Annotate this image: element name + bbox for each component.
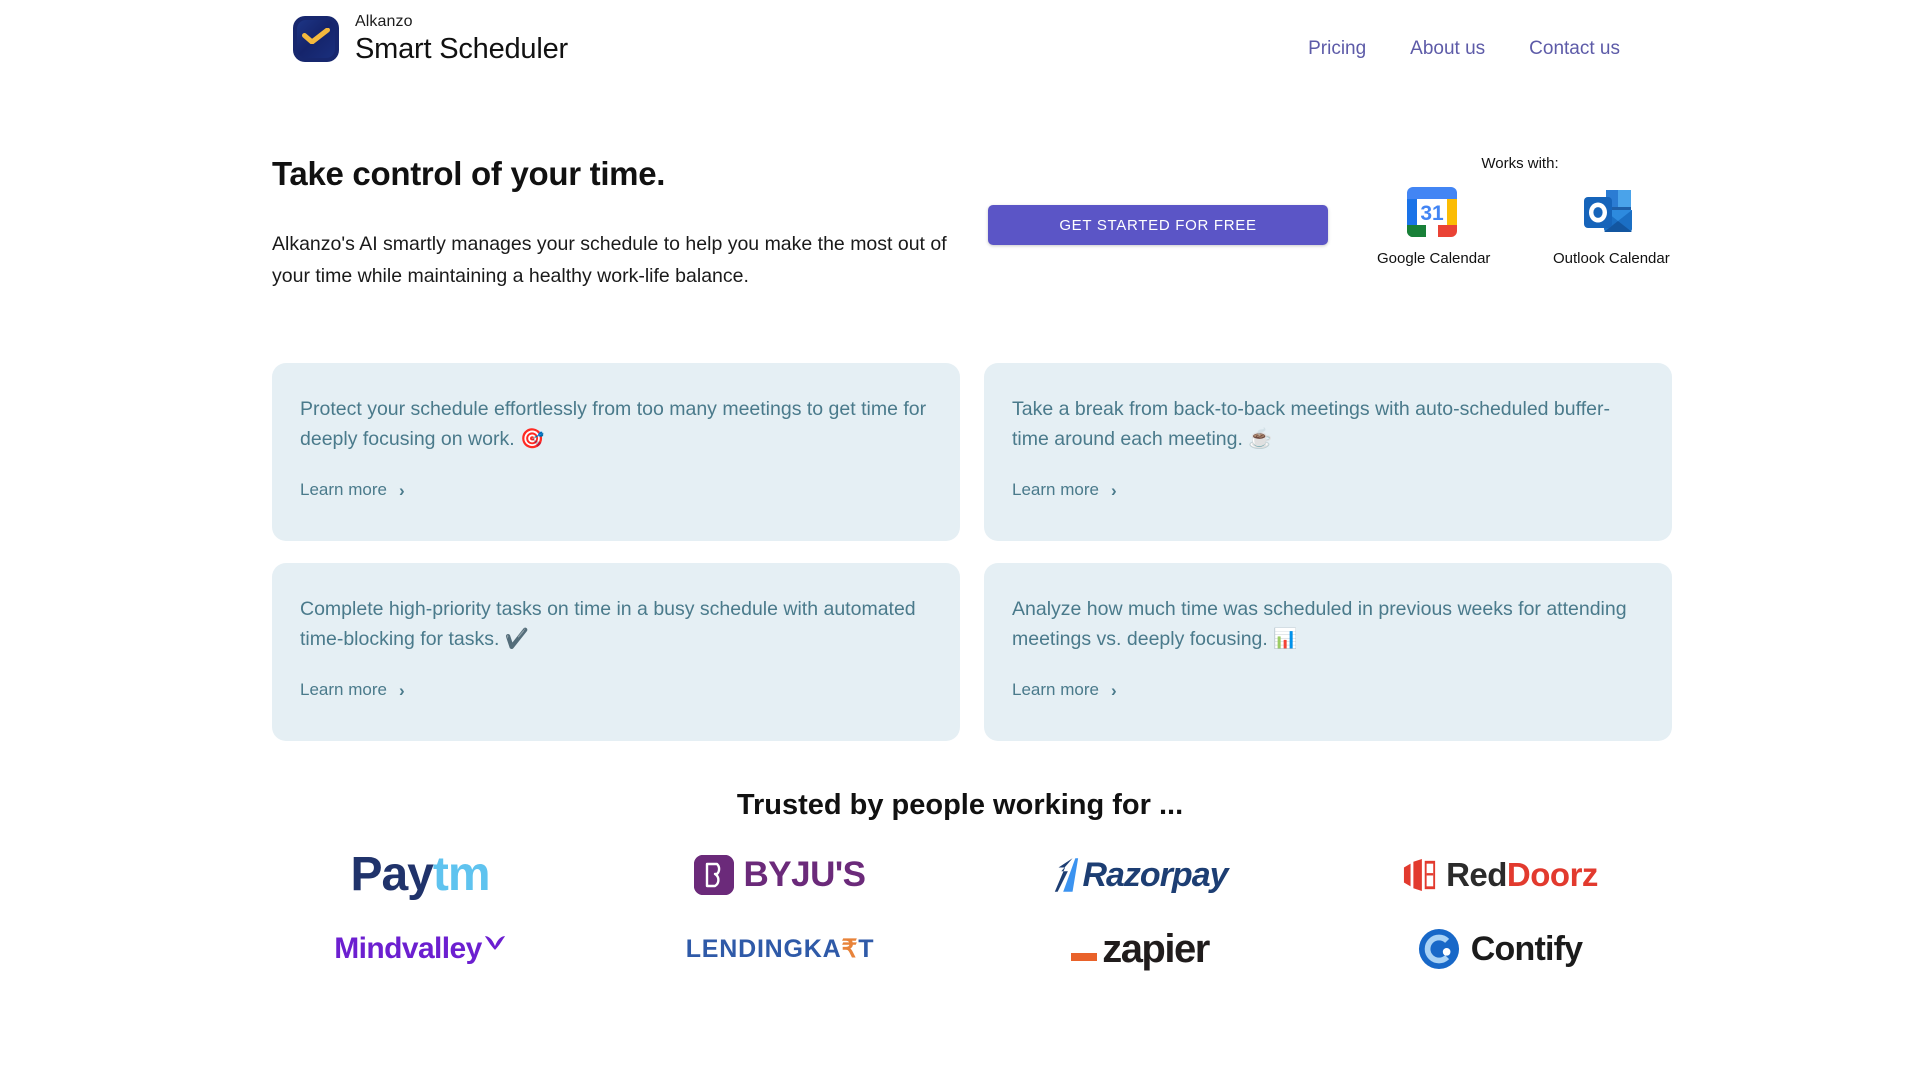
feature-card-text: Take a break from back-to-back meetings … [1012,395,1644,454]
works-with-section: Works with: [1370,155,1670,267]
logo-zapier: zapier [960,914,1320,984]
logo-paytm-part-a: Pay [350,848,432,901]
nav-link-about-us[interactable]: About us [1410,38,1485,60]
feature-card-text: Analyze how much time was scheduled in p… [1012,595,1644,654]
logo-mindvalley-text: Mindvalley [334,932,481,966]
check-glyph [302,28,330,44]
logo-paytm: Paytm [240,840,600,910]
checkmark-badge-icon [293,16,339,62]
logo-zapier-text: zapier [1102,927,1209,972]
get-started-button[interactable]: GET STARTED FOR FREE [988,205,1328,245]
feature-card-text: Protect your schedule effortlessly from … [300,395,932,454]
main-nav: Pricing About us Contact us [1308,38,1620,60]
logo-lendingkart: LENDINGKA₹T [600,914,960,984]
chevron-right-icon: › [399,482,405,499]
learn-more-label: Learn more [300,480,387,500]
learn-more-label: Learn more [1012,480,1099,500]
logo-byjus-text: BYJU'S [743,855,865,895]
feature-card-protect-schedule[interactable]: Protect your schedule effortlessly from … [272,363,960,541]
logo-razorpay: Razorpay [960,840,1320,910]
contify-c-mark-icon [1418,928,1460,970]
logo-reddoorz-part-b: Doorz [1507,856,1598,893]
feature-card-buffer-time[interactable]: Take a break from back-to-back meetings … [984,363,1672,541]
integration-label: Outlook Calendar [1553,250,1663,267]
reddoorz-door-icon [1402,858,1438,892]
logo-lendingkart-part-c: T [858,935,874,963]
integration-outlook-calendar[interactable]: Outlook Calendar [1553,184,1663,267]
brand-text: Alkanzo Smart Scheduler [355,14,568,64]
learn-more-label: Learn more [300,680,387,700]
svg-text:31: 31 [1420,202,1444,225]
mindvalley-leaf-icon [484,934,506,951]
google-calendar-icon: 31 [1404,184,1460,240]
logo-contify-text: Contify [1471,930,1583,969]
logo-mindvalley: Mindvalley [240,914,600,984]
site-header: Alkanzo Smart Scheduler Pricing About us… [0,0,1920,96]
logo-razorpay-text: Razorpay [1082,856,1227,895]
brand-company: Alkanzo [355,14,568,30]
chevron-right-icon: › [1111,482,1117,499]
learn-more-link[interactable]: Learn more › [300,480,405,500]
page-title: Take control of your time. [272,155,972,193]
byjus-b-mark-icon [694,855,734,895]
cta-container: GET STARTED FOR FREE [988,205,1328,245]
zapier-underscore-icon [1071,953,1097,961]
logo-lendingkart-rupee: ₹ [842,935,859,963]
hero-subtitle: Alkanzo's AI smartly manages your schedu… [272,229,962,292]
logo-reddoorz: RedDoorz [1320,840,1680,910]
outlook-calendar-icon [1580,184,1636,240]
feature-card-text: Complete high-priority tasks on time in … [300,595,932,654]
hero-copy: Take control of your time. Alkanzo's AI … [272,155,972,292]
logo-lendingkart-part-a: LENDINGKA [686,935,842,963]
learn-more-link[interactable]: Learn more › [1012,680,1117,700]
integration-label: Google Calendar [1377,250,1487,267]
integration-list: 31 Google Calendar [1370,184,1670,267]
brand-logo[interactable]: Alkanzo Smart Scheduler [293,14,568,64]
landing-page: Alkanzo Smart Scheduler Pricing About us… [0,0,1920,1080]
chevron-right-icon: › [399,682,405,699]
trusted-by-title: Trusted by people working for ... [0,789,1920,822]
learn-more-link[interactable]: Learn more › [1012,480,1117,500]
chevron-right-icon: › [1111,682,1117,699]
learn-more-label: Learn more [1012,680,1099,700]
integration-google-calendar[interactable]: 31 Google Calendar [1377,184,1487,267]
feature-cards: Protect your schedule effortlessly from … [272,363,1672,741]
feature-card-time-blocking[interactable]: Complete high-priority tasks on time in … [272,563,960,741]
feature-card-analytics[interactable]: Analyze how much time was scheduled in p… [984,563,1672,741]
logo-reddoorz-part-a: Red [1446,856,1507,893]
works-with-label: Works with: [1370,155,1670,172]
logo-byjus: BYJU'S [600,840,960,910]
brand-product: Smart Scheduler [355,35,568,64]
razorpay-arrow-icon [1052,858,1080,892]
logo-contify: Contify [1320,914,1680,984]
trusted-by-logos: Paytm BYJU'S Razorpay [240,838,1680,986]
nav-link-contact-us[interactable]: Contact us [1529,38,1620,60]
logo-paytm-part-b: tm [433,848,490,901]
learn-more-link[interactable]: Learn more › [300,680,405,700]
nav-link-pricing[interactable]: Pricing [1308,38,1366,60]
